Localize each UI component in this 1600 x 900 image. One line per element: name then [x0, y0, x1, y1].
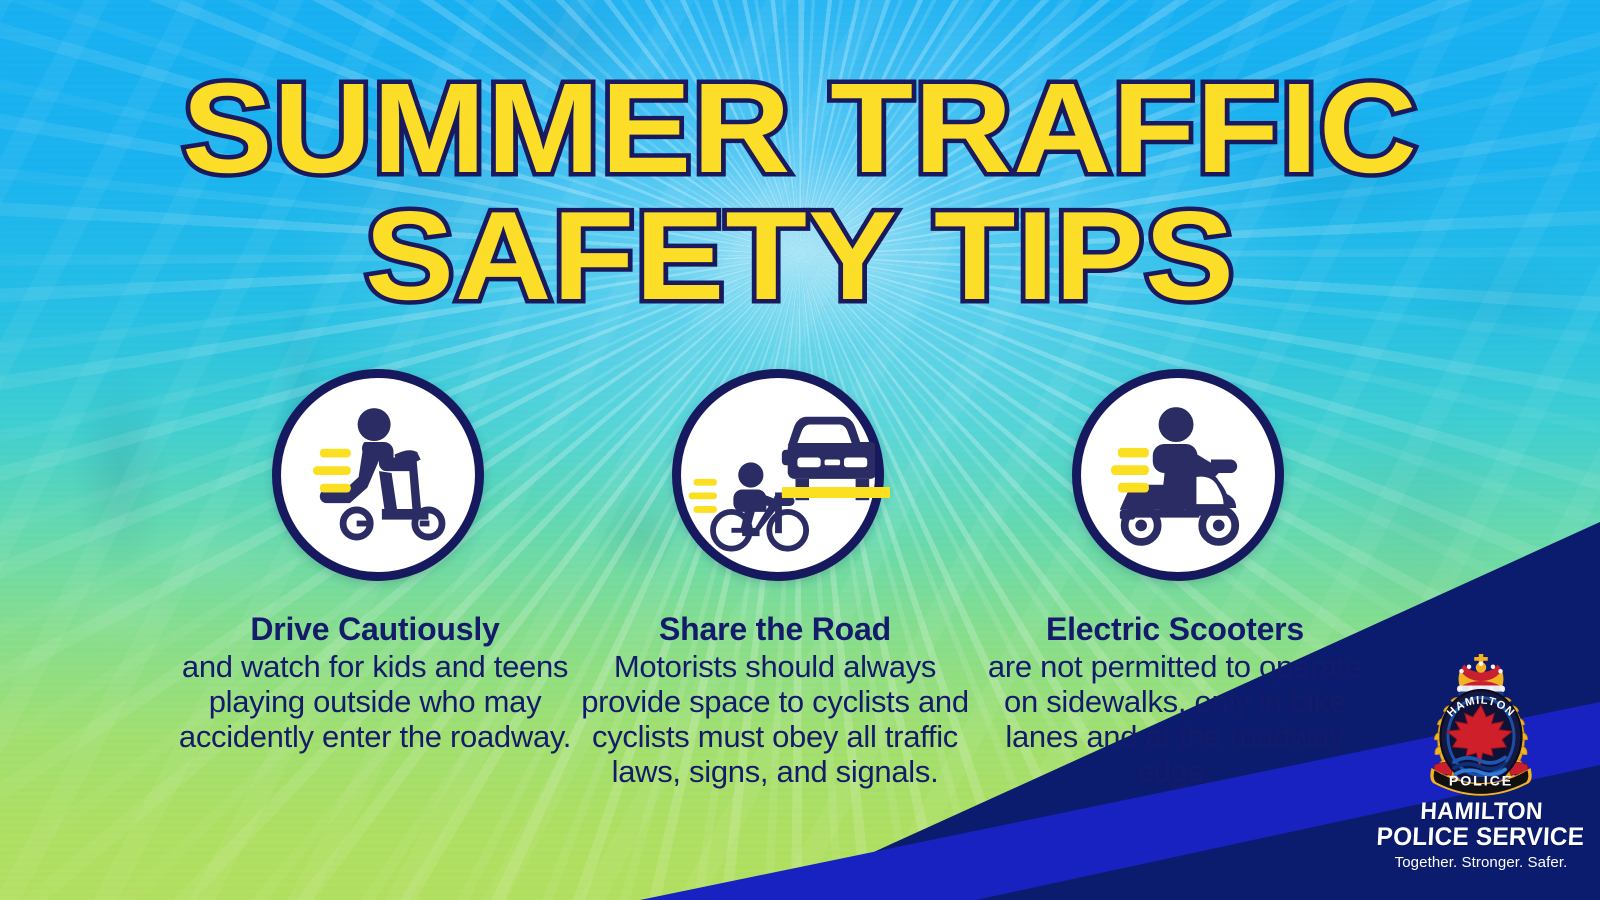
tip-body-3: are not permitted to operate on sidewalk…: [975, 649, 1375, 789]
hamilton-police-logo-block: HAMILTON POLICE HAMILTON POLICE SERVICE …: [1368, 648, 1594, 871]
water-waves-icon: [1454, 758, 1505, 775]
tip-heading-3: Electric Scooters: [975, 612, 1375, 647]
police-tagline: Together. Stronger. Safer.: [1368, 854, 1594, 871]
wordmark-line-1: HAMILTON: [1373, 800, 1591, 824]
tip-column-3: Electric Scooters are not permitted to o…: [975, 612, 1375, 789]
crest-banner-text: POLICE: [1449, 773, 1513, 789]
tip-heading-2: Share the Road: [575, 612, 975, 647]
tip-icon-circle-1: [272, 369, 484, 581]
hamilton-police-crest-icon: HAMILTON POLICE: [1406, 648, 1556, 798]
tip-heading-1: Drive Cautiously: [175, 612, 575, 647]
tip-column-1: Drive Cautiously and watch for kids and …: [175, 612, 575, 754]
title-line-1: SUMMER TRAFFIC: [0, 68, 1600, 190]
police-wordmark: HAMILTON POLICE SERVICE: [1371, 800, 1590, 850]
tip-icon-circle-2: [672, 369, 884, 581]
tip-column-2: Share the Road Motorists should always p…: [575, 612, 975, 789]
title-line-2: SAFETY TIPS: [0, 196, 1600, 316]
cyclist-speed-lines: [681, 378, 875, 572]
bike-lane-line: [782, 487, 890, 498]
tip-body-2: Motorists should always provide space to…: [575, 649, 975, 789]
speed-lines: [1111, 448, 1149, 493]
tip-icon-circle-3: [1072, 369, 1284, 581]
tip-body-1: and watch for kids and teens playing out…: [175, 649, 575, 754]
poster-title: SUMMER TRAFFIC SAFETY TIPS: [0, 68, 1600, 315]
kick-scooter-rider-icon: [281, 378, 475, 572]
wordmark-line-2: POLICE SERVICE: [1371, 824, 1589, 850]
summer-traffic-safety-poster: SUMMER TRAFFIC SAFETY TIPS: [0, 0, 1600, 900]
speed-lines: [313, 449, 351, 493]
moped-scooter-rider-icon: [1081, 378, 1275, 572]
